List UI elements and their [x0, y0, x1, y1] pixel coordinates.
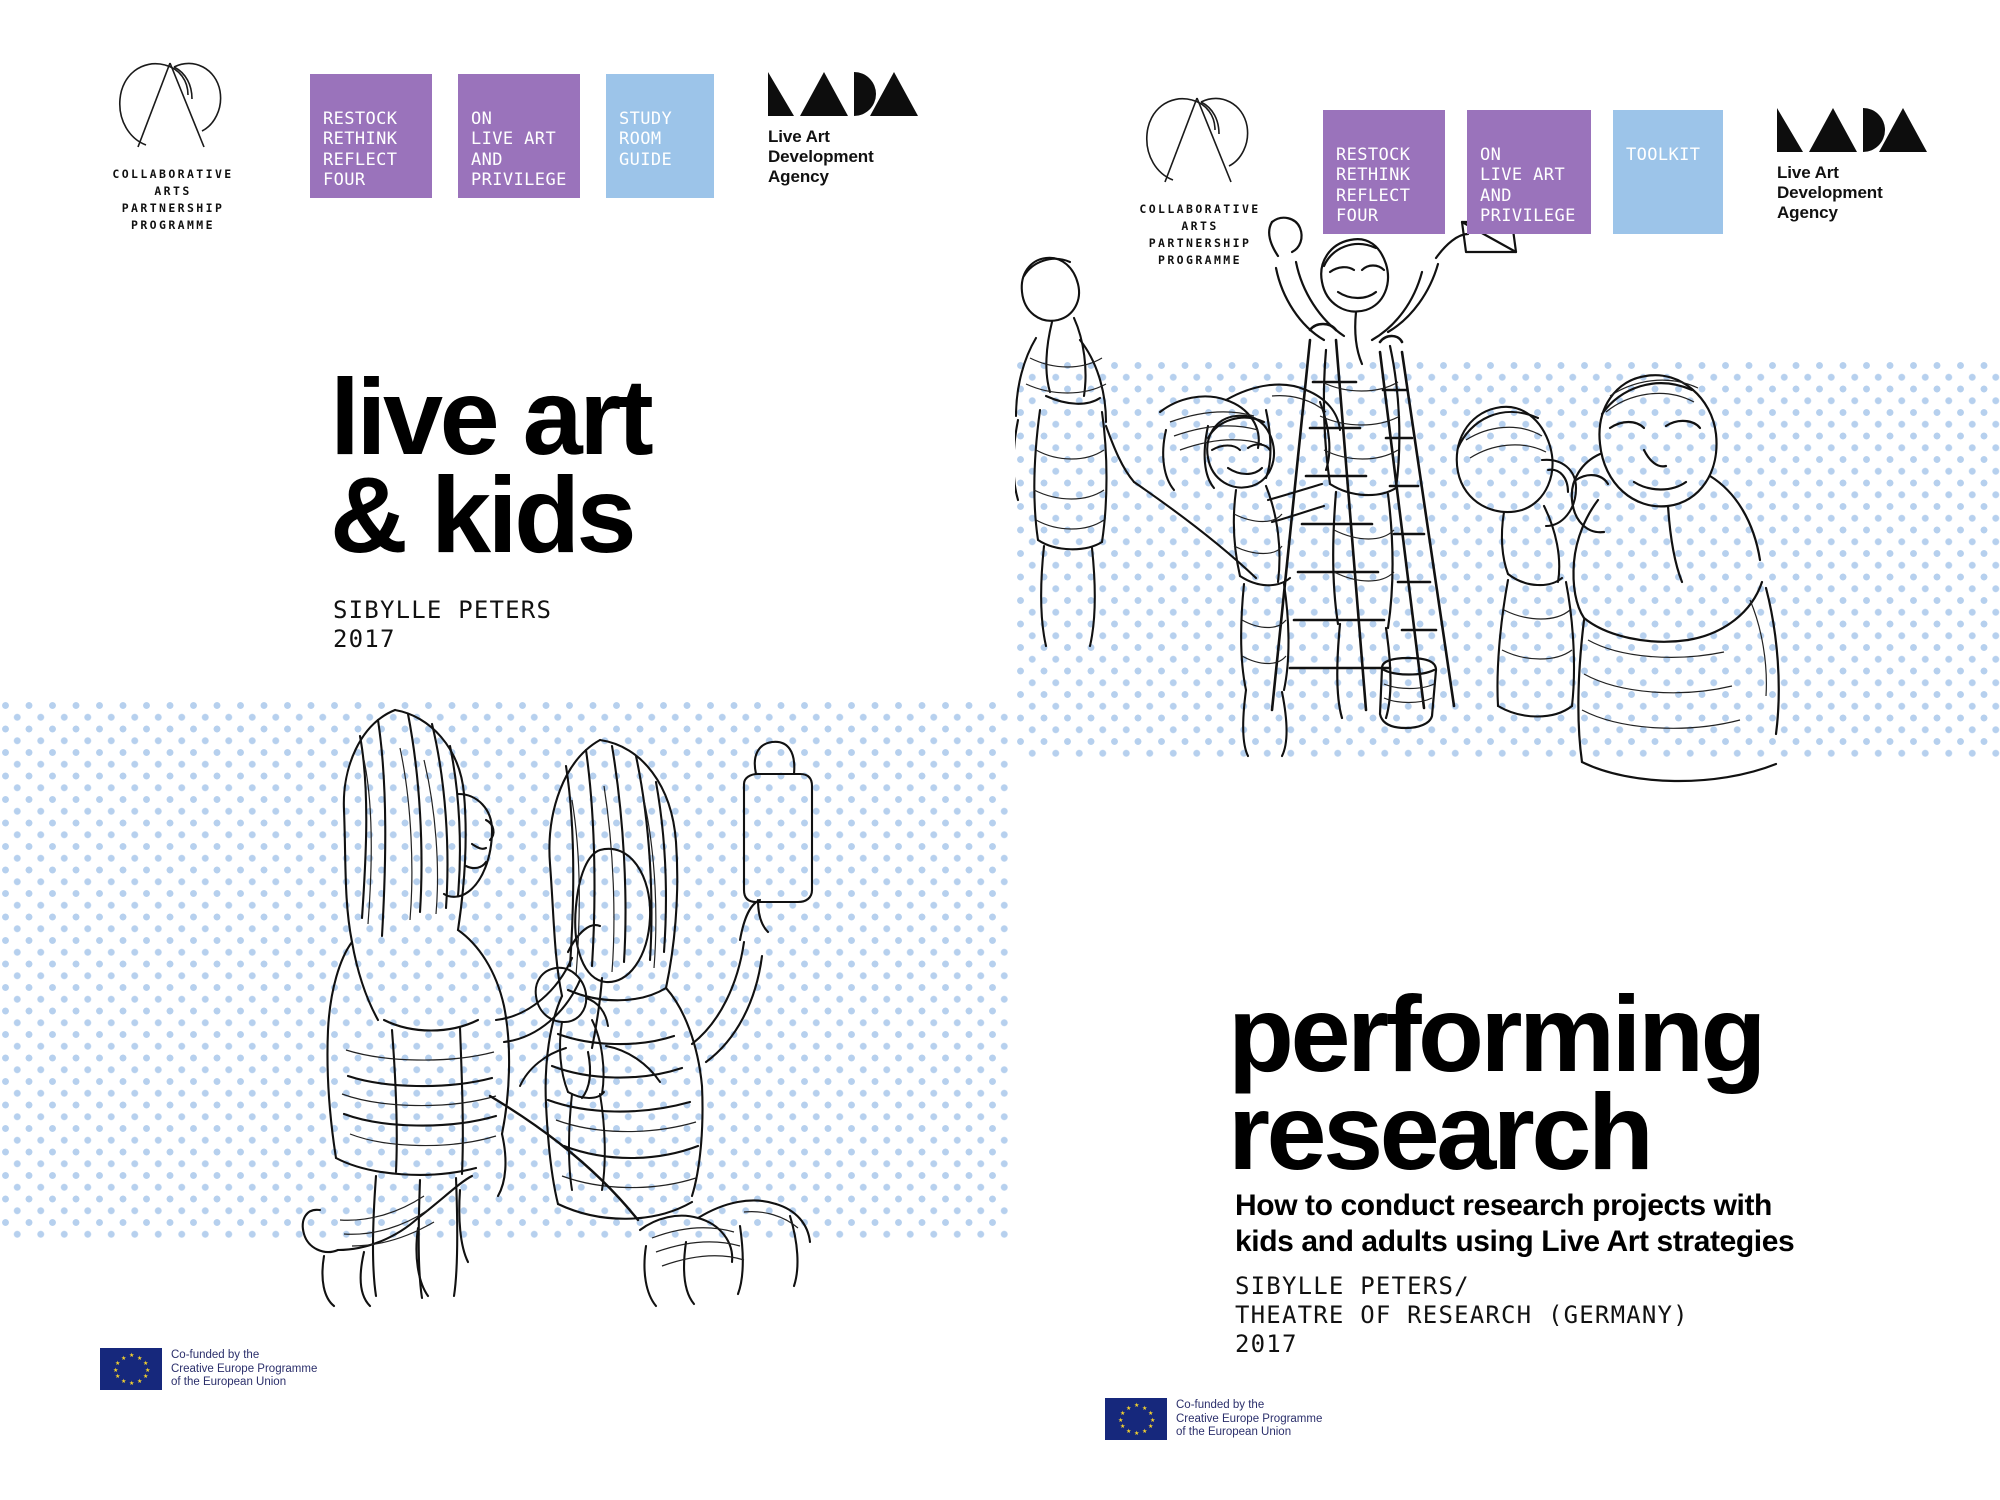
tag-label: RESTOCK RETHINK REFLECT FOUR [323, 109, 397, 191]
tag-label: TOOLKIT [1626, 145, 1700, 165]
tag-restock-rethink-reflect-four[interactable]: RESTOCK RETHINK REFLECT FOUR [1323, 110, 1445, 234]
lada-triangles-logo [768, 72, 920, 118]
capp-logo-left: COLLABORATIVE ARTS PARTNERSHIP PROGRAMME [108, 55, 238, 234]
left-page-title: live art & kids [330, 368, 650, 564]
tag-label: ON LIVE ART AND PRIVILEGE [471, 109, 567, 191]
right-page-byline: SIBYLLE PETERS/ THEATRE OF RESEARCH (GER… [1235, 1272, 1689, 1359]
tag-label: RESTOCK RETHINK REFLECT FOUR [1336, 145, 1410, 227]
right-page-subtitle: How to conduct research projects with ki… [1235, 1188, 1794, 1260]
lada-caption: Live Art Development Agency [1777, 163, 1929, 223]
left-cover-page: COLLABORATIVE ARTS PARTNERSHIP PROGRAMME… [0, 0, 1010, 1500]
lada-caption: Live Art Development Agency [768, 127, 920, 187]
capp-caption: COLLABORATIVE ARTS PARTNERSHIP PROGRAMME [108, 166, 238, 234]
lada-triangles-logo [1777, 108, 1929, 154]
eu-flag-icon: ★ ★ ★ ★ ★ ★ ★ ★ ★ ★ ★ ★ [1105, 1398, 1167, 1440]
capp-caption: COLLABORATIVE ARTS PARTNERSHIP PROGRAMME [1135, 201, 1265, 269]
tag-study-room-guide[interactable]: STUDY ROOM GUIDE [606, 74, 714, 198]
eu-flag-icon: ★ ★ ★ ★ ★ ★ ★ ★ ★ ★ ★ ★ [100, 1348, 162, 1390]
eu-funding-badge-left: ★ ★ ★ ★ ★ ★ ★ ★ ★ ★ ★ ★ Co-funded by the… [100, 1348, 317, 1390]
capp-double-arc-logo [1135, 90, 1265, 195]
tag-on-live-art-and-privilege[interactable]: ON LIVE ART AND PRIVILEGE [1467, 110, 1591, 234]
tag-restock-rethink-reflect-four[interactable]: RESTOCK RETHINK REFLECT FOUR [310, 74, 432, 198]
tag-on-live-art-and-privilege[interactable]: ON LIVE ART AND PRIVILEGE [458, 74, 580, 198]
tag-toolkit[interactable]: TOOLKIT [1613, 110, 1723, 234]
capp-double-arc-logo [108, 55, 238, 160]
eu-funding-text: Co-funded by the Creative Europe Program… [171, 1348, 317, 1390]
left-page-byline: SIBYLLE PETERS 2017 [333, 596, 552, 654]
cover-spread: COLLABORATIVE ARTS PARTNERSHIP PROGRAMME… [0, 0, 2000, 1500]
lada-logo-left: Live Art Development Agency [768, 72, 920, 187]
dot-pattern-left [0, 700, 1010, 1240]
dot-pattern-right [1015, 360, 2000, 760]
lada-logo-right: Live Art Development Agency [1777, 108, 1929, 223]
eu-funding-text: Co-funded by the Creative Europe Program… [1176, 1398, 1322, 1440]
tag-label: STUDY ROOM GUIDE [619, 109, 672, 170]
capp-logo-right: COLLABORATIVE ARTS PARTNERSHIP PROGRAMME [1135, 90, 1265, 269]
tag-label: ON LIVE ART AND PRIVILEGE [1480, 145, 1576, 227]
right-page-title: performing research [1228, 985, 1763, 1181]
eu-funding-badge-right: ★ ★ ★ ★ ★ ★ ★ ★ ★ ★ ★ ★ Co-funded by the… [1105, 1398, 1322, 1440]
